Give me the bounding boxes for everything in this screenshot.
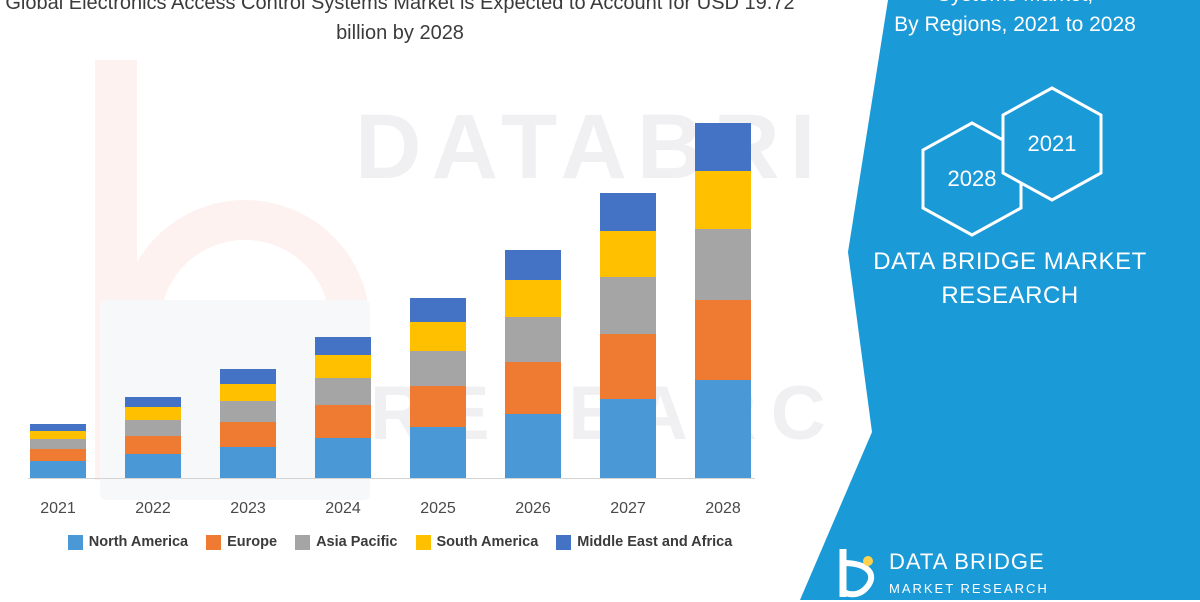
- bar-segment-south-america: [220, 384, 276, 401]
- bar-segment-middle-east-and-africa: [125, 397, 181, 407]
- stacked-bar-chart: 20212022202320242025202620272028: [0, 60, 800, 540]
- brand-name: DATA BRIDGE MARKET RESEARCH: [840, 245, 1180, 313]
- right-panel-title: Systems Market, By Regions, 2021 to 2028: [850, 0, 1180, 40]
- bar-segment-middle-east-and-africa: [220, 369, 276, 383]
- x-axis-tick-label: 2025: [388, 500, 488, 518]
- bar-segment-south-america: [695, 171, 751, 230]
- bar-segment-asia-pacific: [600, 277, 656, 333]
- bar-segment-middle-east-and-africa: [600, 193, 656, 231]
- bar-segment-north-america: [220, 447, 276, 478]
- legend-swatch: [206, 535, 221, 550]
- x-axis-tick-label: 2022: [103, 500, 203, 518]
- bar-segment-middle-east-and-africa: [695, 123, 751, 171]
- logo-line2: MARKET RESEARCH: [889, 575, 1049, 602]
- company-logo: DATA BRIDGE MARKET RESEARCH: [835, 545, 1115, 601]
- right-panel-title-line2: By Regions, 2021 to 2028: [850, 10, 1180, 40]
- bar-segment-europe: [505, 362, 561, 414]
- x-axis-tick-label: 2027: [578, 500, 678, 518]
- bar-segment-south-america: [410, 322, 466, 351]
- bar-segment-asia-pacific: [315, 378, 371, 405]
- bar-segment-europe: [695, 300, 751, 380]
- bar-group: [30, 424, 86, 478]
- legend-label: Middle East and Africa: [577, 534, 732, 550]
- bridge-b-logo-icon: [835, 545, 881, 601]
- legend-item: Europe: [206, 534, 277, 550]
- x-axis-tick-label: 2024: [293, 500, 393, 518]
- bar-segment-south-america: [125, 407, 181, 420]
- brand-line1: DATA BRIDGE MARKET: [840, 245, 1180, 279]
- bar-segment-asia-pacific: [30, 439, 86, 449]
- hexagon-2021: 2021: [1000, 85, 1104, 203]
- bar-segment-europe: [30, 449, 86, 461]
- bar-segment-asia-pacific: [125, 420, 181, 435]
- logo-text: DATA BRIDGE MARKET RESEARCH: [889, 548, 1049, 602]
- bar-group: [125, 397, 181, 478]
- bar-segment-south-america: [600, 231, 656, 278]
- bar-segment-asia-pacific: [695, 229, 751, 300]
- bar-segment-europe: [600, 334, 656, 399]
- bar-segment-south-america: [30, 431, 86, 439]
- bar-segment-south-america: [315, 355, 371, 378]
- bar-segment-north-america: [410, 427, 466, 478]
- bar-segment-europe: [315, 405, 371, 438]
- legend-label: North America: [89, 534, 188, 550]
- bar-segment-north-america: [600, 399, 656, 478]
- bar-group: [410, 298, 466, 478]
- bar-segment-north-america: [125, 454, 181, 478]
- bar-segment-asia-pacific: [220, 401, 276, 422]
- x-axis-tick-label: 2026: [483, 500, 583, 518]
- bar-group: [315, 337, 371, 478]
- right-panel-content: Systems Market, By Regions, 2021 to 2028…: [800, 0, 1200, 600]
- bar-segment-asia-pacific: [410, 351, 466, 386]
- x-axis-line: [28, 478, 755, 479]
- x-axis-tick-label: 2023: [198, 500, 298, 518]
- bar-group: [600, 193, 656, 478]
- logo-line1: DATA BRIDGE: [889, 548, 1049, 575]
- brand-line2: RESEARCH: [840, 279, 1180, 313]
- bar-segment-north-america: [505, 414, 561, 478]
- legend-swatch: [416, 535, 431, 550]
- legend-item: North America: [68, 534, 188, 550]
- legend-label: Europe: [227, 534, 277, 550]
- legend-label: Asia Pacific: [316, 534, 397, 550]
- bar-segment-south-america: [505, 280, 561, 317]
- legend-swatch: [295, 535, 310, 550]
- bar-segment-europe: [220, 422, 276, 447]
- bar-group: [505, 250, 561, 478]
- legend-label: South America: [437, 534, 539, 550]
- bar-segment-middle-east-and-africa: [505, 250, 561, 280]
- right-panel-title-line1: Systems Market,: [850, 0, 1180, 10]
- bar-segment-europe: [410, 386, 466, 427]
- bar-segment-europe: [125, 436, 181, 454]
- bar-segment-north-america: [315, 438, 371, 478]
- x-axis-tick-label: 2021: [8, 500, 108, 518]
- bar-segment-north-america: [695, 380, 751, 478]
- bar-segment-middle-east-and-africa: [410, 298, 466, 322]
- legend-swatch: [556, 535, 571, 550]
- bar-segment-asia-pacific: [505, 317, 561, 362]
- hexagon-2021-label: 2021: [1000, 85, 1104, 203]
- bar-group: [695, 123, 751, 478]
- bar-segment-middle-east-and-africa: [315, 337, 371, 355]
- page-title: Global Electronics Access Control System…: [0, 0, 800, 48]
- bar-segment-north-america: [30, 461, 86, 478]
- legend-swatch: [68, 535, 83, 550]
- bar-group: [220, 369, 276, 478]
- chart-legend: North AmericaEuropeAsia PacificSouth Ame…: [0, 534, 800, 550]
- legend-item: Asia Pacific: [295, 534, 397, 550]
- legend-item: Middle East and Africa: [556, 534, 732, 550]
- x-axis-tick-label: 2028: [673, 500, 773, 518]
- legend-item: South America: [416, 534, 539, 550]
